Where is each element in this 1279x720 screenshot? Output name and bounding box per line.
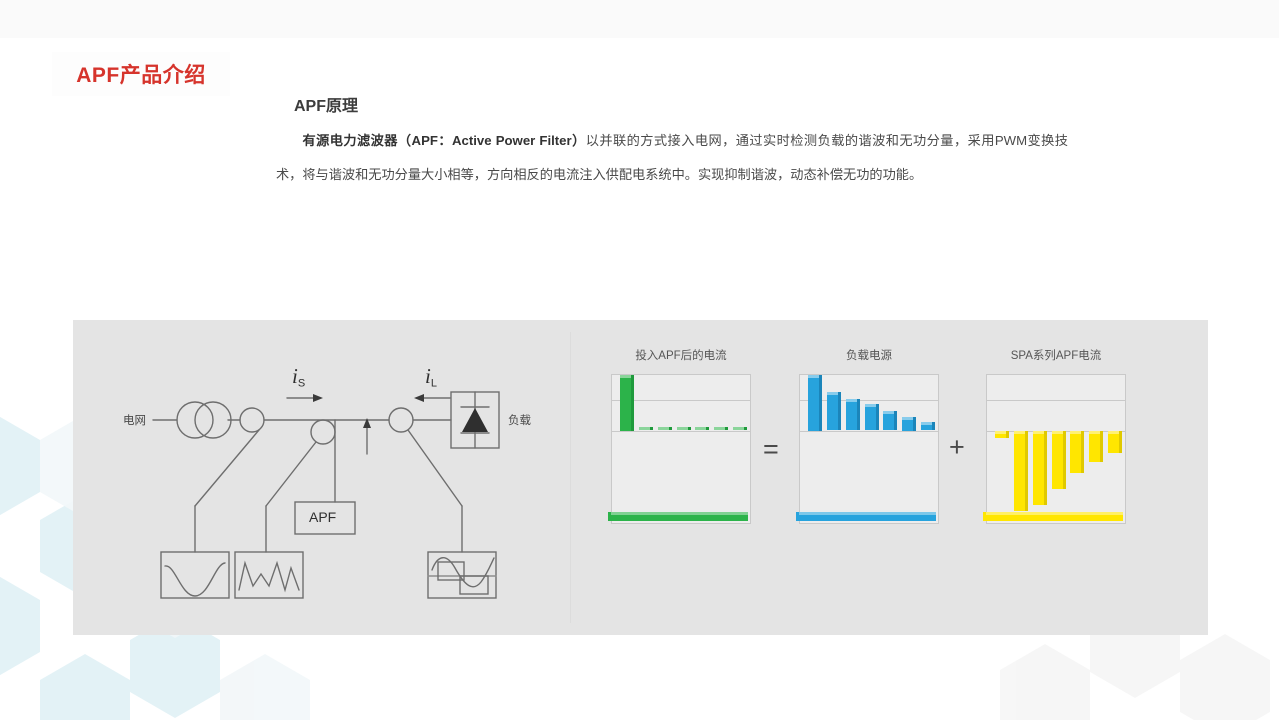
- bar-highlight: [1052, 431, 1063, 434]
- slide-title-text: APF产品介绍: [76, 59, 206, 89]
- bar-highlight: [808, 375, 819, 378]
- bar-shadow: [838, 392, 841, 431]
- bar-shadow: [1119, 431, 1122, 453]
- chart-baseline-highlight: [799, 512, 936, 515]
- bar-shadow: [913, 417, 916, 431]
- bar-highlight: [1108, 431, 1119, 434]
- bar: [808, 375, 819, 431]
- bar-highlight: [677, 427, 688, 430]
- is-arrow-head: [313, 394, 323, 402]
- circuit-diagram-svg: [73, 320, 570, 635]
- bar-shadow: [1025, 431, 1028, 512]
- bar-shadow: [1081, 431, 1084, 474]
- chart-baseline-bar: [608, 512, 748, 521]
- gridline-1: [987, 400, 1125, 401]
- load-ct-signal-lead: [408, 430, 462, 506]
- bar-shadow: [1006, 431, 1009, 439]
- load-current-transformer: [389, 408, 413, 432]
- apf-principle-card: APF原理 有源电力滤波器（APF：Active Power Filter）以并…: [258, 72, 1082, 241]
- bar: [1033, 431, 1044, 505]
- bar-highlight: [995, 431, 1006, 434]
- bar: [1070, 431, 1081, 474]
- bar-highlight: [1089, 431, 1100, 434]
- chart-baseline-highlight: [611, 512, 748, 515]
- bar-shadow: [725, 427, 728, 430]
- bar-highlight: [902, 417, 913, 420]
- bar: [846, 399, 857, 431]
- diagram-panel: 电网 负载 APF iS iL 投入APF后的电流 = 负载电源 + SPA系列…: [73, 320, 1208, 635]
- gridline-0: [800, 431, 938, 432]
- bar-highlight: [620, 375, 631, 378]
- bar-highlight: [865, 404, 876, 407]
- bar-shadow: [819, 375, 822, 431]
- load-label: 负载: [508, 412, 531, 428]
- chart-title-0: 投入APF后的电流: [611, 347, 751, 363]
- bar-shadow: [631, 375, 634, 431]
- bar-shadow: [688, 427, 691, 430]
- chart-title-2: SPA系列APF电流: [986, 347, 1126, 363]
- bar: [1014, 431, 1025, 512]
- bar-shadow: [744, 427, 747, 430]
- is-subscript: S: [298, 377, 305, 389]
- bar: [733, 427, 744, 430]
- chart-frame-2: [986, 374, 1126, 524]
- chart-baseline-bar: [983, 512, 1123, 521]
- bar: [620, 375, 631, 431]
- equals-operator: =: [763, 436, 779, 463]
- circuit-diagram: 电网 负载 APF iS iL: [73, 320, 570, 635]
- bar-shadow: [932, 422, 935, 431]
- grid-label: 电网: [123, 412, 146, 428]
- chart-title-1: 负载电源: [799, 347, 939, 363]
- bar: [995, 431, 1006, 439]
- apf-box-label: APF: [309, 509, 336, 525]
- waveform-box-distorted: [235, 552, 303, 598]
- bar-shadow: [650, 427, 653, 430]
- waveform-box-sine: [161, 552, 229, 598]
- source-current-transformer: [240, 408, 264, 432]
- chart-frame-0: [611, 374, 751, 524]
- il-arrow-head: [414, 394, 424, 402]
- bar: [695, 427, 706, 430]
- bar: [921, 422, 932, 431]
- bar-shadow: [857, 399, 860, 431]
- chart-baseline-highlight: [986, 512, 1123, 515]
- bar: [865, 404, 876, 430]
- il-subscript: L: [431, 377, 437, 389]
- bar: [658, 427, 669, 430]
- apf-current-transformer: [311, 420, 335, 444]
- bar-shadow: [1044, 431, 1047, 505]
- bar: [1052, 431, 1063, 489]
- waveform-distorted-curve: [239, 563, 299, 590]
- bar: [1108, 431, 1119, 453]
- bar: [639, 427, 650, 430]
- bar-shadow: [1063, 431, 1066, 489]
- bar-highlight: [921, 422, 932, 425]
- bar: [902, 417, 913, 431]
- bar-highlight: [714, 427, 725, 430]
- apf-ct-signal-lead: [266, 442, 316, 506]
- card-body-bold-lead: 有源电力滤波器（APF：Active Power Filter）: [302, 133, 586, 148]
- waveform-sine-curve: [165, 563, 225, 596]
- bar: [1089, 431, 1100, 462]
- load-diode-triangle: [462, 408, 488, 432]
- plus-operator: +: [949, 434, 965, 461]
- bar-highlight: [733, 427, 744, 430]
- bar: [883, 411, 894, 430]
- chart-baseline-bar: [796, 512, 936, 521]
- bar-shadow: [894, 411, 897, 430]
- bar-highlight: [1033, 431, 1044, 434]
- bar-highlight: [846, 399, 857, 402]
- bar-highlight: [827, 392, 838, 395]
- bar-highlight: [695, 427, 706, 430]
- is-current-label: iS: [292, 364, 305, 389]
- chart-frame-1: [799, 374, 939, 524]
- bar: [714, 427, 725, 430]
- bar-highlight: [639, 427, 650, 430]
- card-body-paragraph: 有源电力滤波器（APF：Active Power Filter）以并联的方式接入…: [276, 124, 1068, 192]
- il-current-label: iL: [425, 364, 437, 389]
- card-heading: APF原理: [294, 92, 358, 116]
- bar-shadow: [1100, 431, 1103, 462]
- harmonic-charts: 投入APF后的电流 = 负载电源 + SPA系列APF电流: [571, 320, 1208, 635]
- bar-shadow: [669, 427, 672, 430]
- gridline-0: [612, 431, 750, 432]
- bar: [677, 427, 688, 430]
- bar-shadow: [876, 404, 879, 430]
- bar-highlight: [1070, 431, 1081, 434]
- slide-title-tag: APF产品介绍: [52, 52, 230, 96]
- bar-highlight: [883, 411, 894, 414]
- bar-highlight: [658, 427, 669, 430]
- bar-highlight: [1014, 431, 1025, 434]
- bar-shadow: [706, 427, 709, 430]
- bar: [827, 392, 838, 431]
- source-ct-signal-lead: [195, 430, 259, 506]
